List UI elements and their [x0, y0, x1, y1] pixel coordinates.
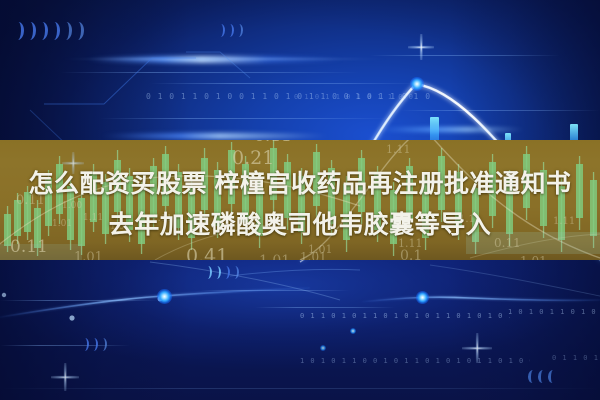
chevron-right-icon [14, 22, 25, 40]
hairline-decor [0, 300, 160, 301]
price-label-1: 0.11 [254, 140, 292, 146]
glow-dot-curve-peak [410, 77, 424, 91]
hairline-decor [100, 118, 390, 119]
chevron-right-icon [205, 266, 212, 279]
chevron-right-icon [218, 24, 225, 37]
chevrons-low-right [528, 370, 556, 383]
digit-row-far-right: 0 1 1 0 1 0 1 [552, 354, 600, 362]
price-label-19: 1.01 [520, 254, 547, 260]
chevrons-mid-right [205, 266, 239, 279]
headline-line-2: 去年加速磷酸奥司他韦胶囊等导入 [0, 209, 600, 241]
chevron-right-icon [91, 338, 98, 351]
chevron-right-icon [26, 22, 37, 40]
chevron-right-icon [74, 22, 85, 40]
price-label-13: 1.01 [259, 253, 290, 260]
hairline-decor [370, 55, 560, 56]
hairline-decor [0, 345, 130, 346]
hairline-decor [255, 307, 395, 308]
chevron-right-icon [82, 338, 89, 351]
price-label-12: 0.41 [186, 245, 228, 260]
price-label-3: 1.11 [386, 143, 411, 156]
promo-banner: 0 1 0 1 1 0 1 0 0 1 1 0 1 0 1 1 0 0 1 0 … [0, 0, 600, 400]
digit-row-lower-mid: 0 1 1 0 1 0 1 1 0 1 0 1 0 1 1 0 1 0 1 0 … [300, 312, 510, 320]
glow-dot-tiny-b [320, 345, 326, 351]
chevron-right-icon [100, 338, 107, 351]
headline-line-1: 怎么配资买股票 梓橦宫收药品再注册批准通知书 [0, 168, 600, 200]
chevron-left-icon [528, 370, 536, 383]
price-label-11: 1.01 [74, 250, 103, 260]
chevron-right-icon [214, 266, 221, 279]
chevrons-top-left [14, 22, 84, 40]
chevron-right-icon [236, 24, 243, 37]
chevron-right-icon [50, 22, 61, 40]
glow-dot-tiny-a [350, 328, 356, 334]
digit-row-lower-right: 1 0 1 0 1 1 0 1 0 1 0 1 1 0 1 0 1 1 0 [508, 308, 600, 316]
glow-dot-lower-left [157, 289, 172, 304]
hairline-decor [150, 83, 420, 84]
gold-band-contents: 0.110.211.110.111.001.111.011.111.010.11… [0, 140, 600, 260]
hairline-decor [60, 72, 360, 73]
chevron-right-icon [223, 266, 230, 279]
hairline-decor [200, 290, 350, 291]
price-label-20: 0.1 [400, 248, 422, 260]
hairline-decor [400, 110, 600, 111]
glow-dot-lower-right [416, 291, 429, 304]
digit-row-bottom: 1 0 1 0 1 1 0 0 1 0 1 1 0 1 0 1 0 1 1 0 … [300, 357, 530, 365]
chevron-right-icon [62, 22, 73, 40]
price-label-21: 1.01 [300, 250, 327, 260]
chevron-left-icon [548, 370, 556, 383]
chevron-right-icon [227, 24, 234, 37]
chevrons-top-mid [218, 24, 243, 37]
price-label-2: 0.21 [232, 147, 274, 169]
chevron-right-icon [232, 266, 239, 279]
chevrons-low-left [82, 338, 107, 351]
digit-row-midleft: 0 1 0 1 1 0 1 0 1 1 0 0 1 0 1 [294, 93, 414, 101]
chevron-left-icon [538, 370, 546, 383]
hairline-decor [0, 388, 600, 389]
chevron-right-icon [38, 22, 49, 40]
gold-overlay-band: 0.110.211.110.111.001.111.011.111.010.11… [0, 140, 600, 260]
